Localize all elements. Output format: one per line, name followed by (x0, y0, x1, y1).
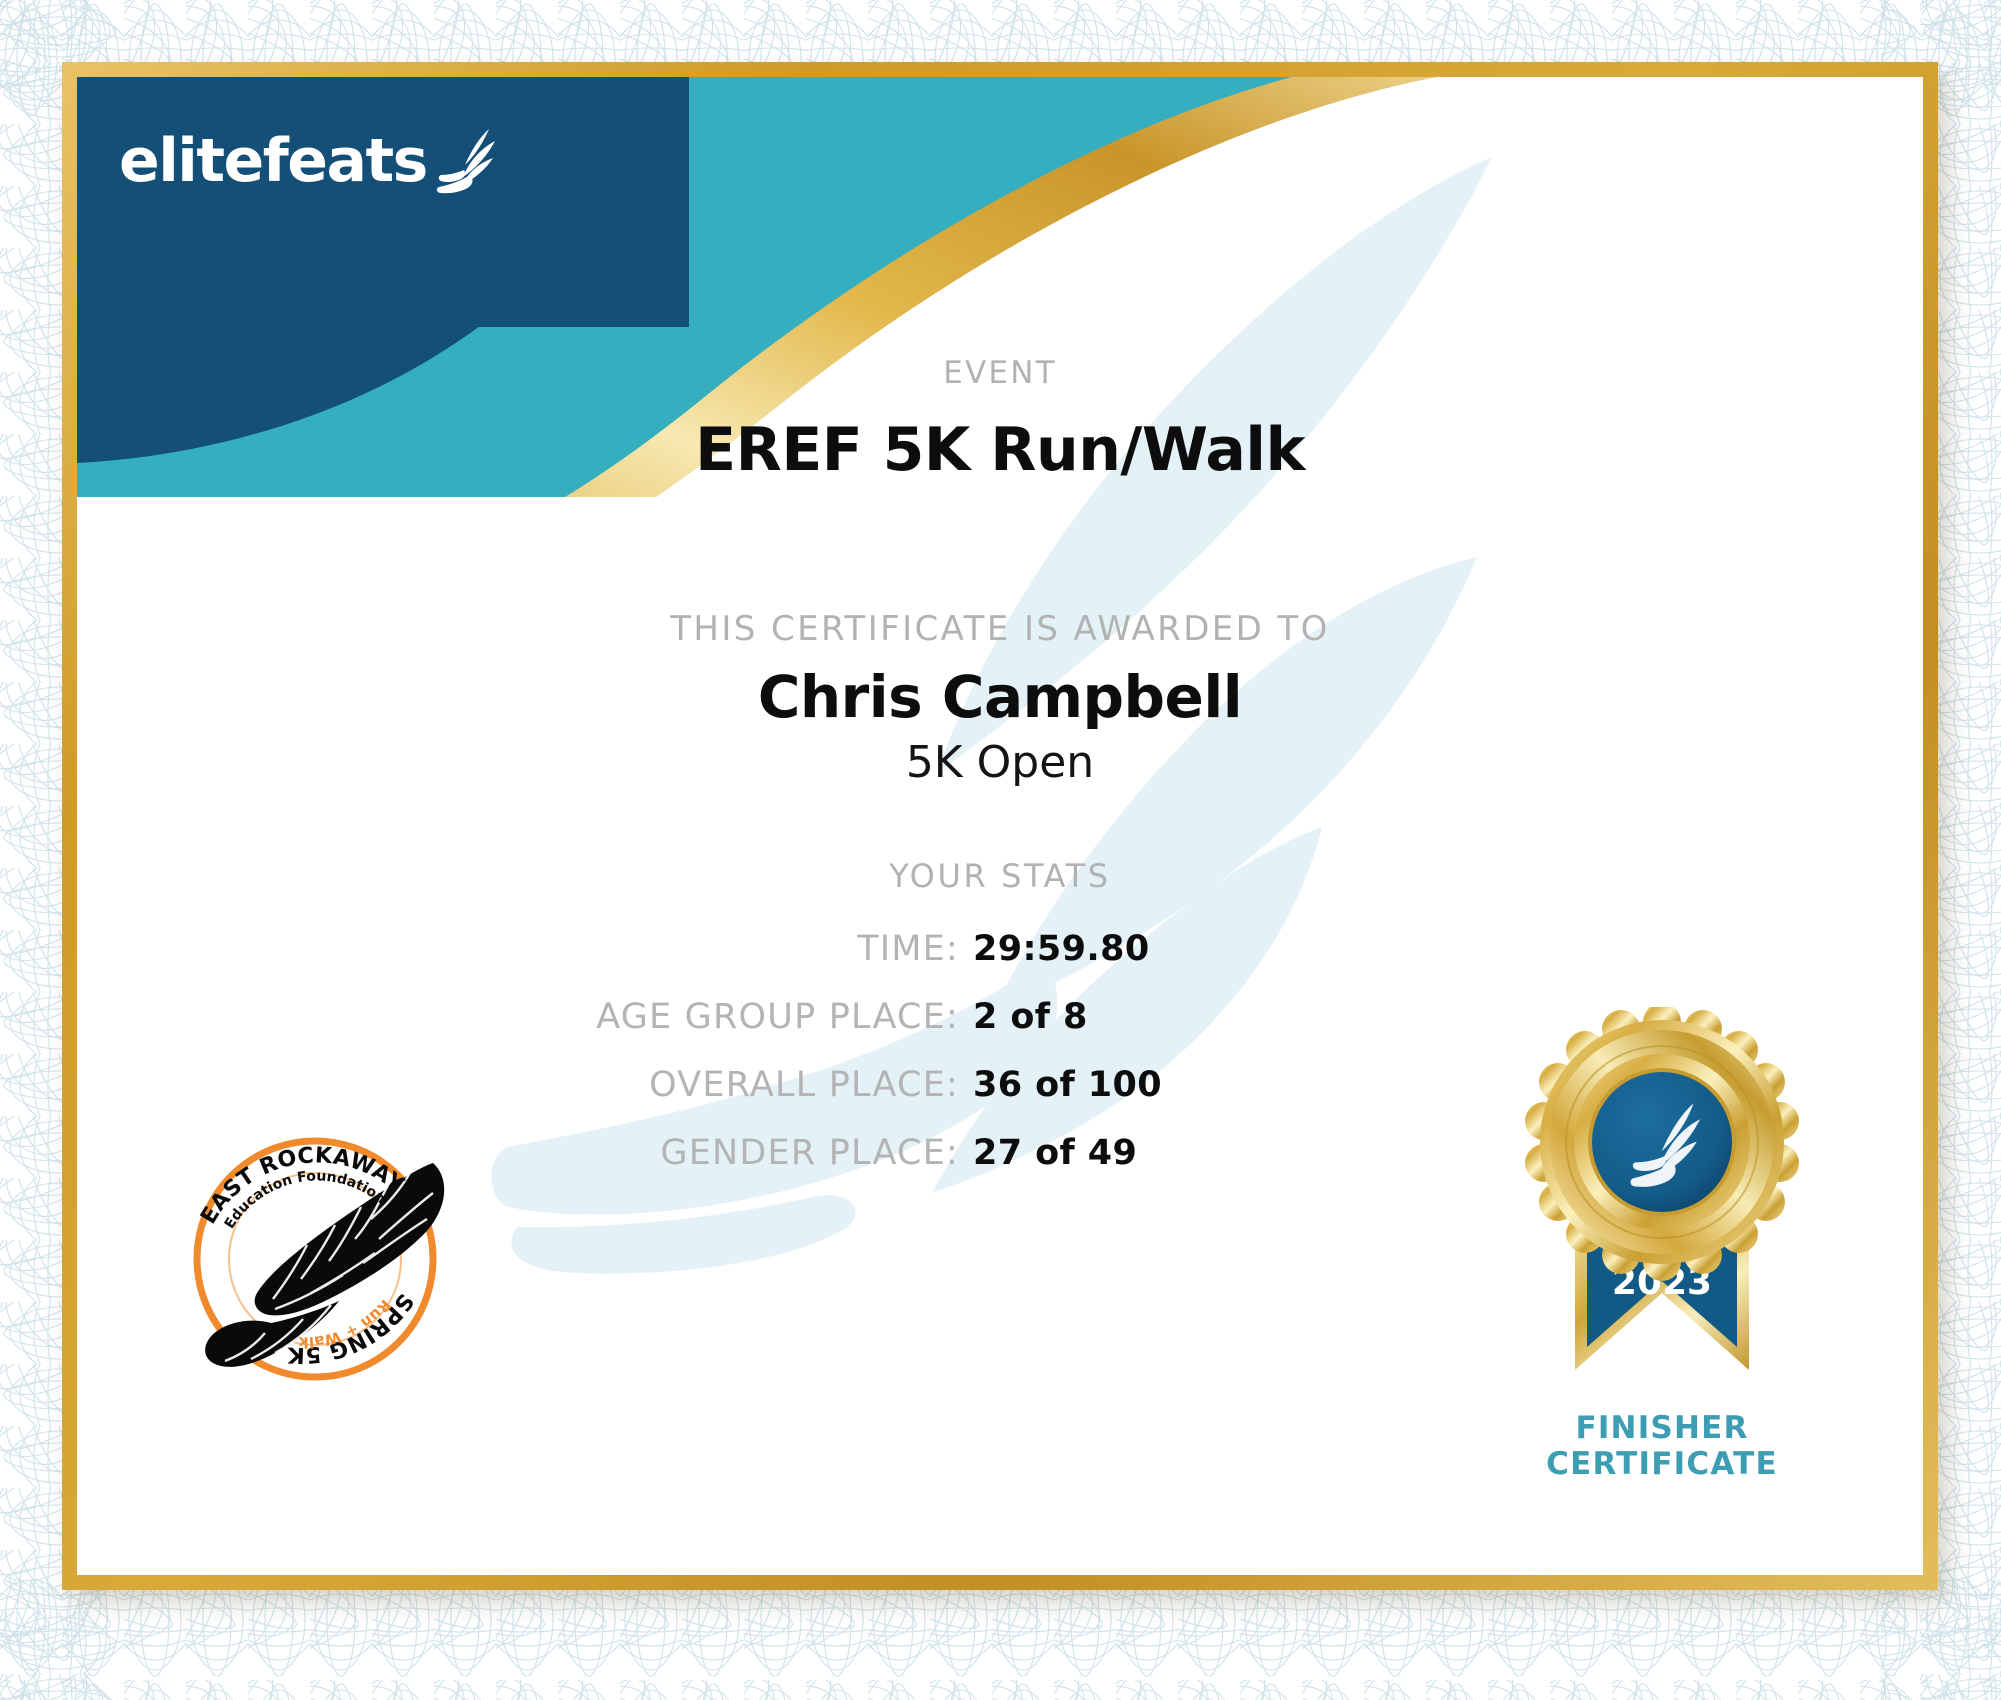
stat-value: 36 of 100 (973, 1065, 1162, 1105)
event-caption-label: EVENT (77, 355, 1923, 391)
stat-label: OVERALL PLACE: (77, 1065, 959, 1105)
stat-value: 2 of 8 (973, 997, 1088, 1037)
recipient-division: 5K Open (77, 737, 1923, 788)
brand-wordmark: elitefeats (119, 131, 427, 191)
winged-foot-icon (431, 125, 503, 197)
badge-caption-line1: FINISHER (1497, 1411, 1827, 1447)
stat-value: 27 of 49 (973, 1133, 1137, 1173)
event-title: EREF 5K Run/Walk (77, 415, 1923, 485)
certificate-page: elitefeats EVENT EREF 5K Run/Walk THIS C… (0, 0, 2001, 1700)
stats-caption-label: YOUR STATS (77, 857, 1923, 895)
stat-label: AGE GROUP PLACE: (77, 997, 959, 1037)
finisher-medal-icon: 2023 (1497, 1007, 1827, 1407)
elitefeats-brand-logo: elitefeats (119, 125, 503, 197)
stat-row: AGE GROUP PLACE: 2 of 8 (77, 997, 1367, 1049)
certificate-body: elitefeats EVENT EREF 5K Run/Walk THIS C… (77, 77, 1923, 1575)
gold-frame-border: elitefeats EVENT EREF 5K Run/Walk THIS C… (62, 62, 1938, 1590)
stat-value: 29:59.80 (973, 929, 1150, 969)
stat-row: TIME: 29:59.80 (77, 929, 1367, 981)
event-logo: EAST ROCKAWAY Education Foundation SPRIN… (165, 1107, 465, 1407)
badge-caption-line2: CERTIFICATE (1497, 1447, 1827, 1483)
medal-starburst (1525, 1007, 1799, 1281)
finisher-badge: 2023 (1497, 1007, 1827, 1483)
badge-caption: FINISHER CERTIFICATE (1497, 1411, 1827, 1483)
stat-label: TIME: (77, 929, 959, 969)
recipient-name: Chris Campbell (77, 663, 1923, 731)
award-caption-label: THIS CERTIFICATE IS AWARDED TO (77, 609, 1923, 649)
